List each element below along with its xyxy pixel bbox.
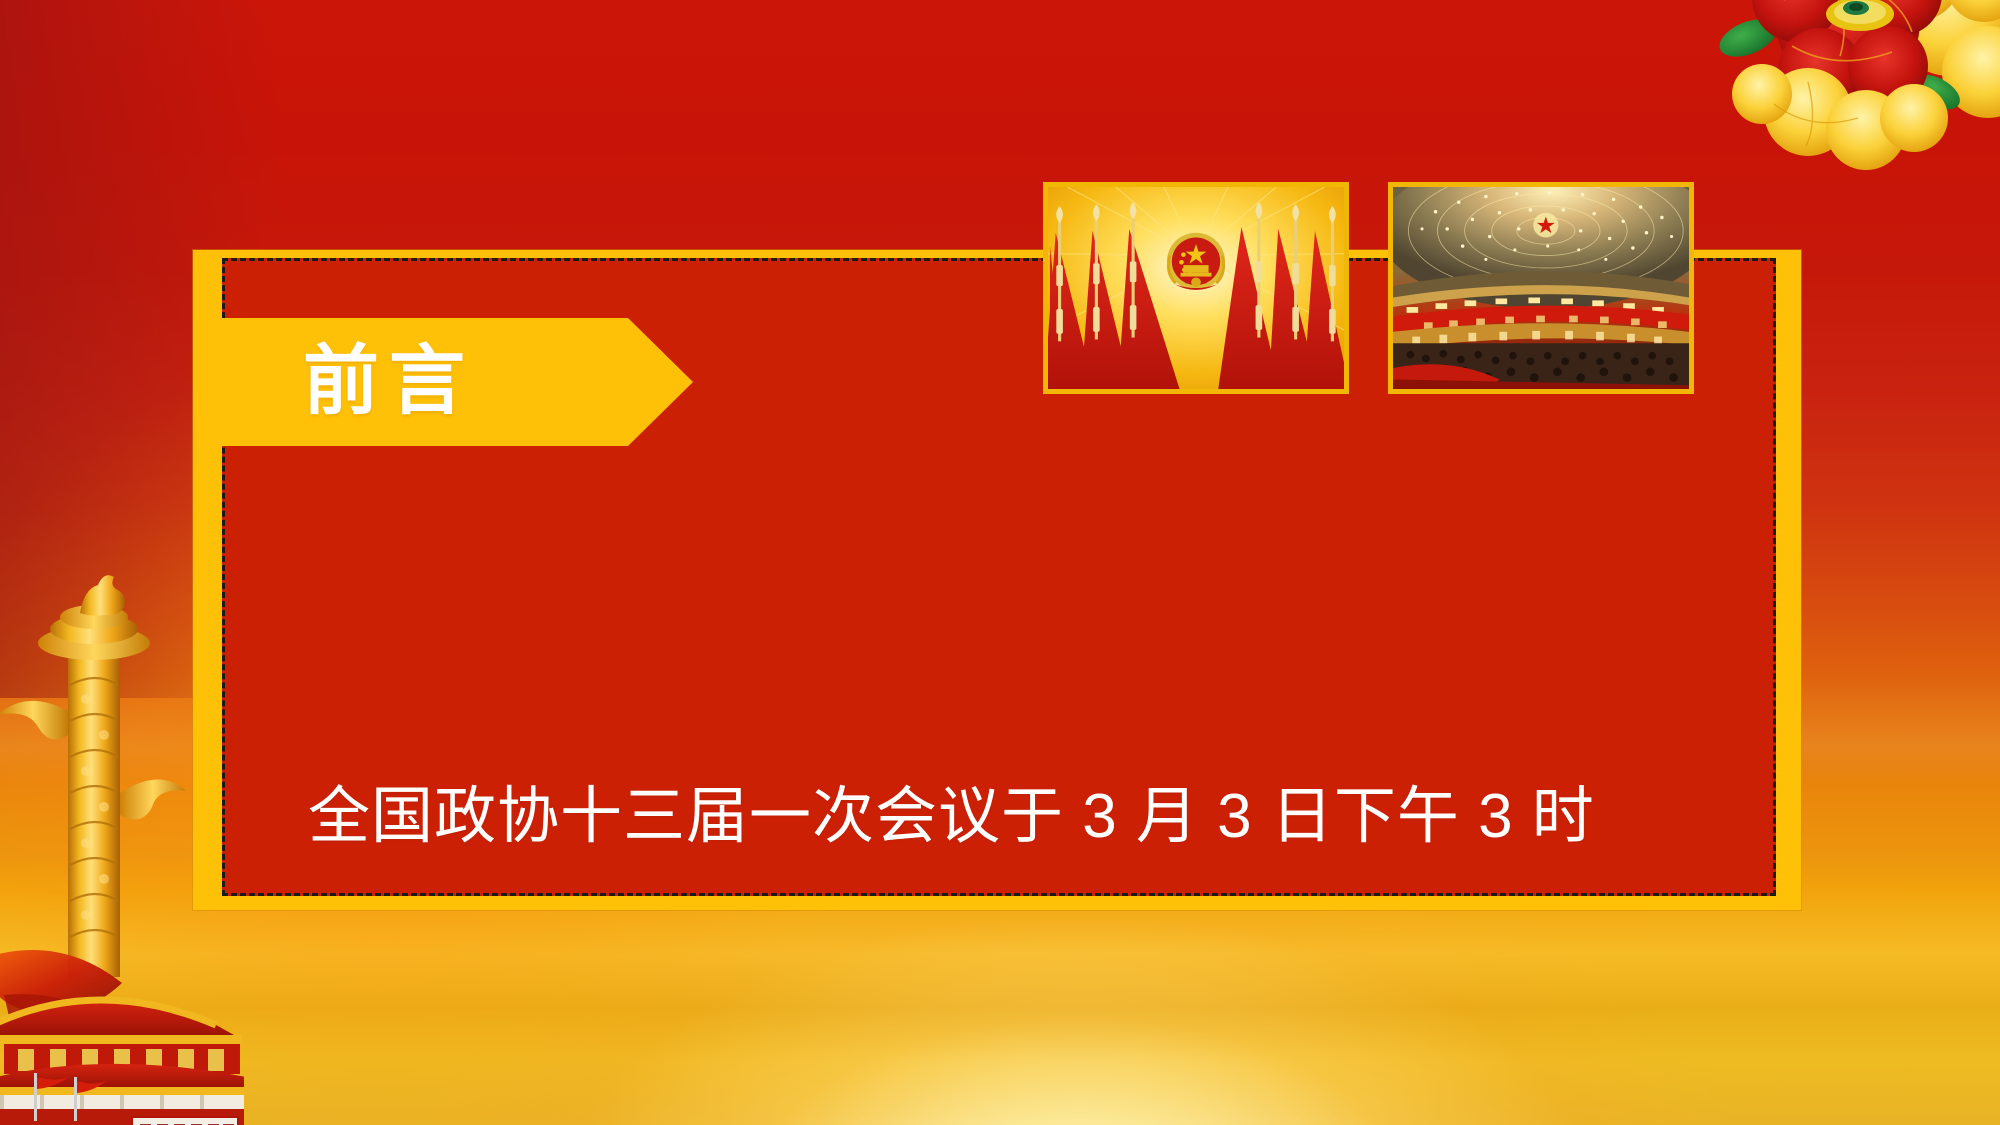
great-hall-of-the-people-photo [1388,182,1694,394]
body-line: 全国政协十三届一次会议于 3 月 3 日下午 3 时 [308,759,1708,874]
section-title-banner: 前言 [193,318,693,446]
preface-body-text: 全国政协十三届一次会议于 3 月 3 日下午 3 时 在北京人民大会堂开幕。俞正… [308,529,1708,1125]
slide-canvas: 前言 全国政协十三届一次会议于 3 月 3 日下午 3 时 在北京人民大会堂开幕… [0,0,2000,1125]
national-emblem-flags-photo [1043,182,1349,394]
page-title: 前言 [303,344,475,420]
body-line: 在北京人民大会堂开幕。俞正声同志代表政协第 [308,1104,1708,1125]
